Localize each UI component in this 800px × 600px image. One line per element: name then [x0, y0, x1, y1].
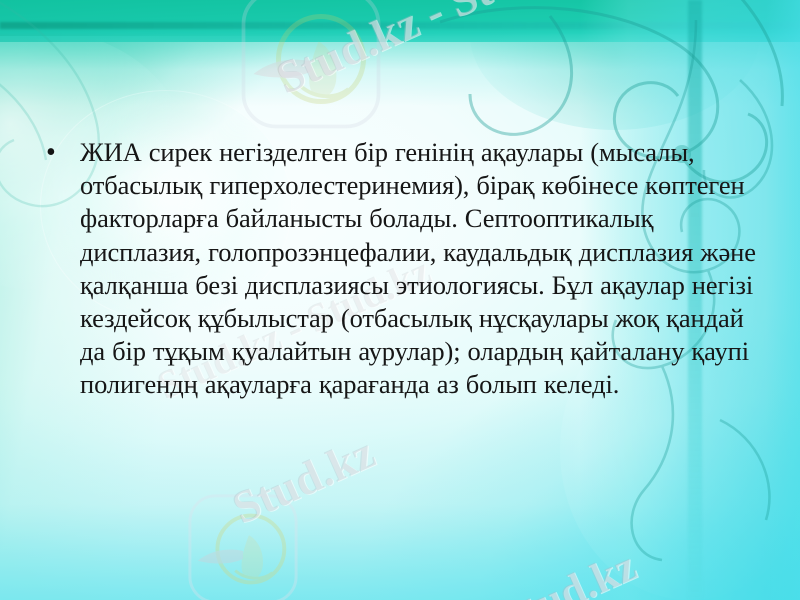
- bullet-list-item: • ЖИА сирек негізделген бір генінің ақау…: [42, 136, 758, 402]
- bullet-marker-icon: •: [42, 136, 80, 169]
- slide-content-body: • ЖИА сирек негізделген бір генінің ақау…: [42, 136, 758, 402]
- watermark-diagonal-center: Stud.kz: [224, 425, 382, 534]
- bullet-paragraph-text: ЖИА сирек негізделген бір генінің ақаула…: [80, 136, 758, 402]
- slide-right-edge: [766, 0, 800, 600]
- presentation-slide: Stud.kz - Stud.kz Stud.kz - Stud.kz Stud…: [0, 0, 800, 600]
- stud-kz-logo-watermark-icon: [184, 490, 302, 600]
